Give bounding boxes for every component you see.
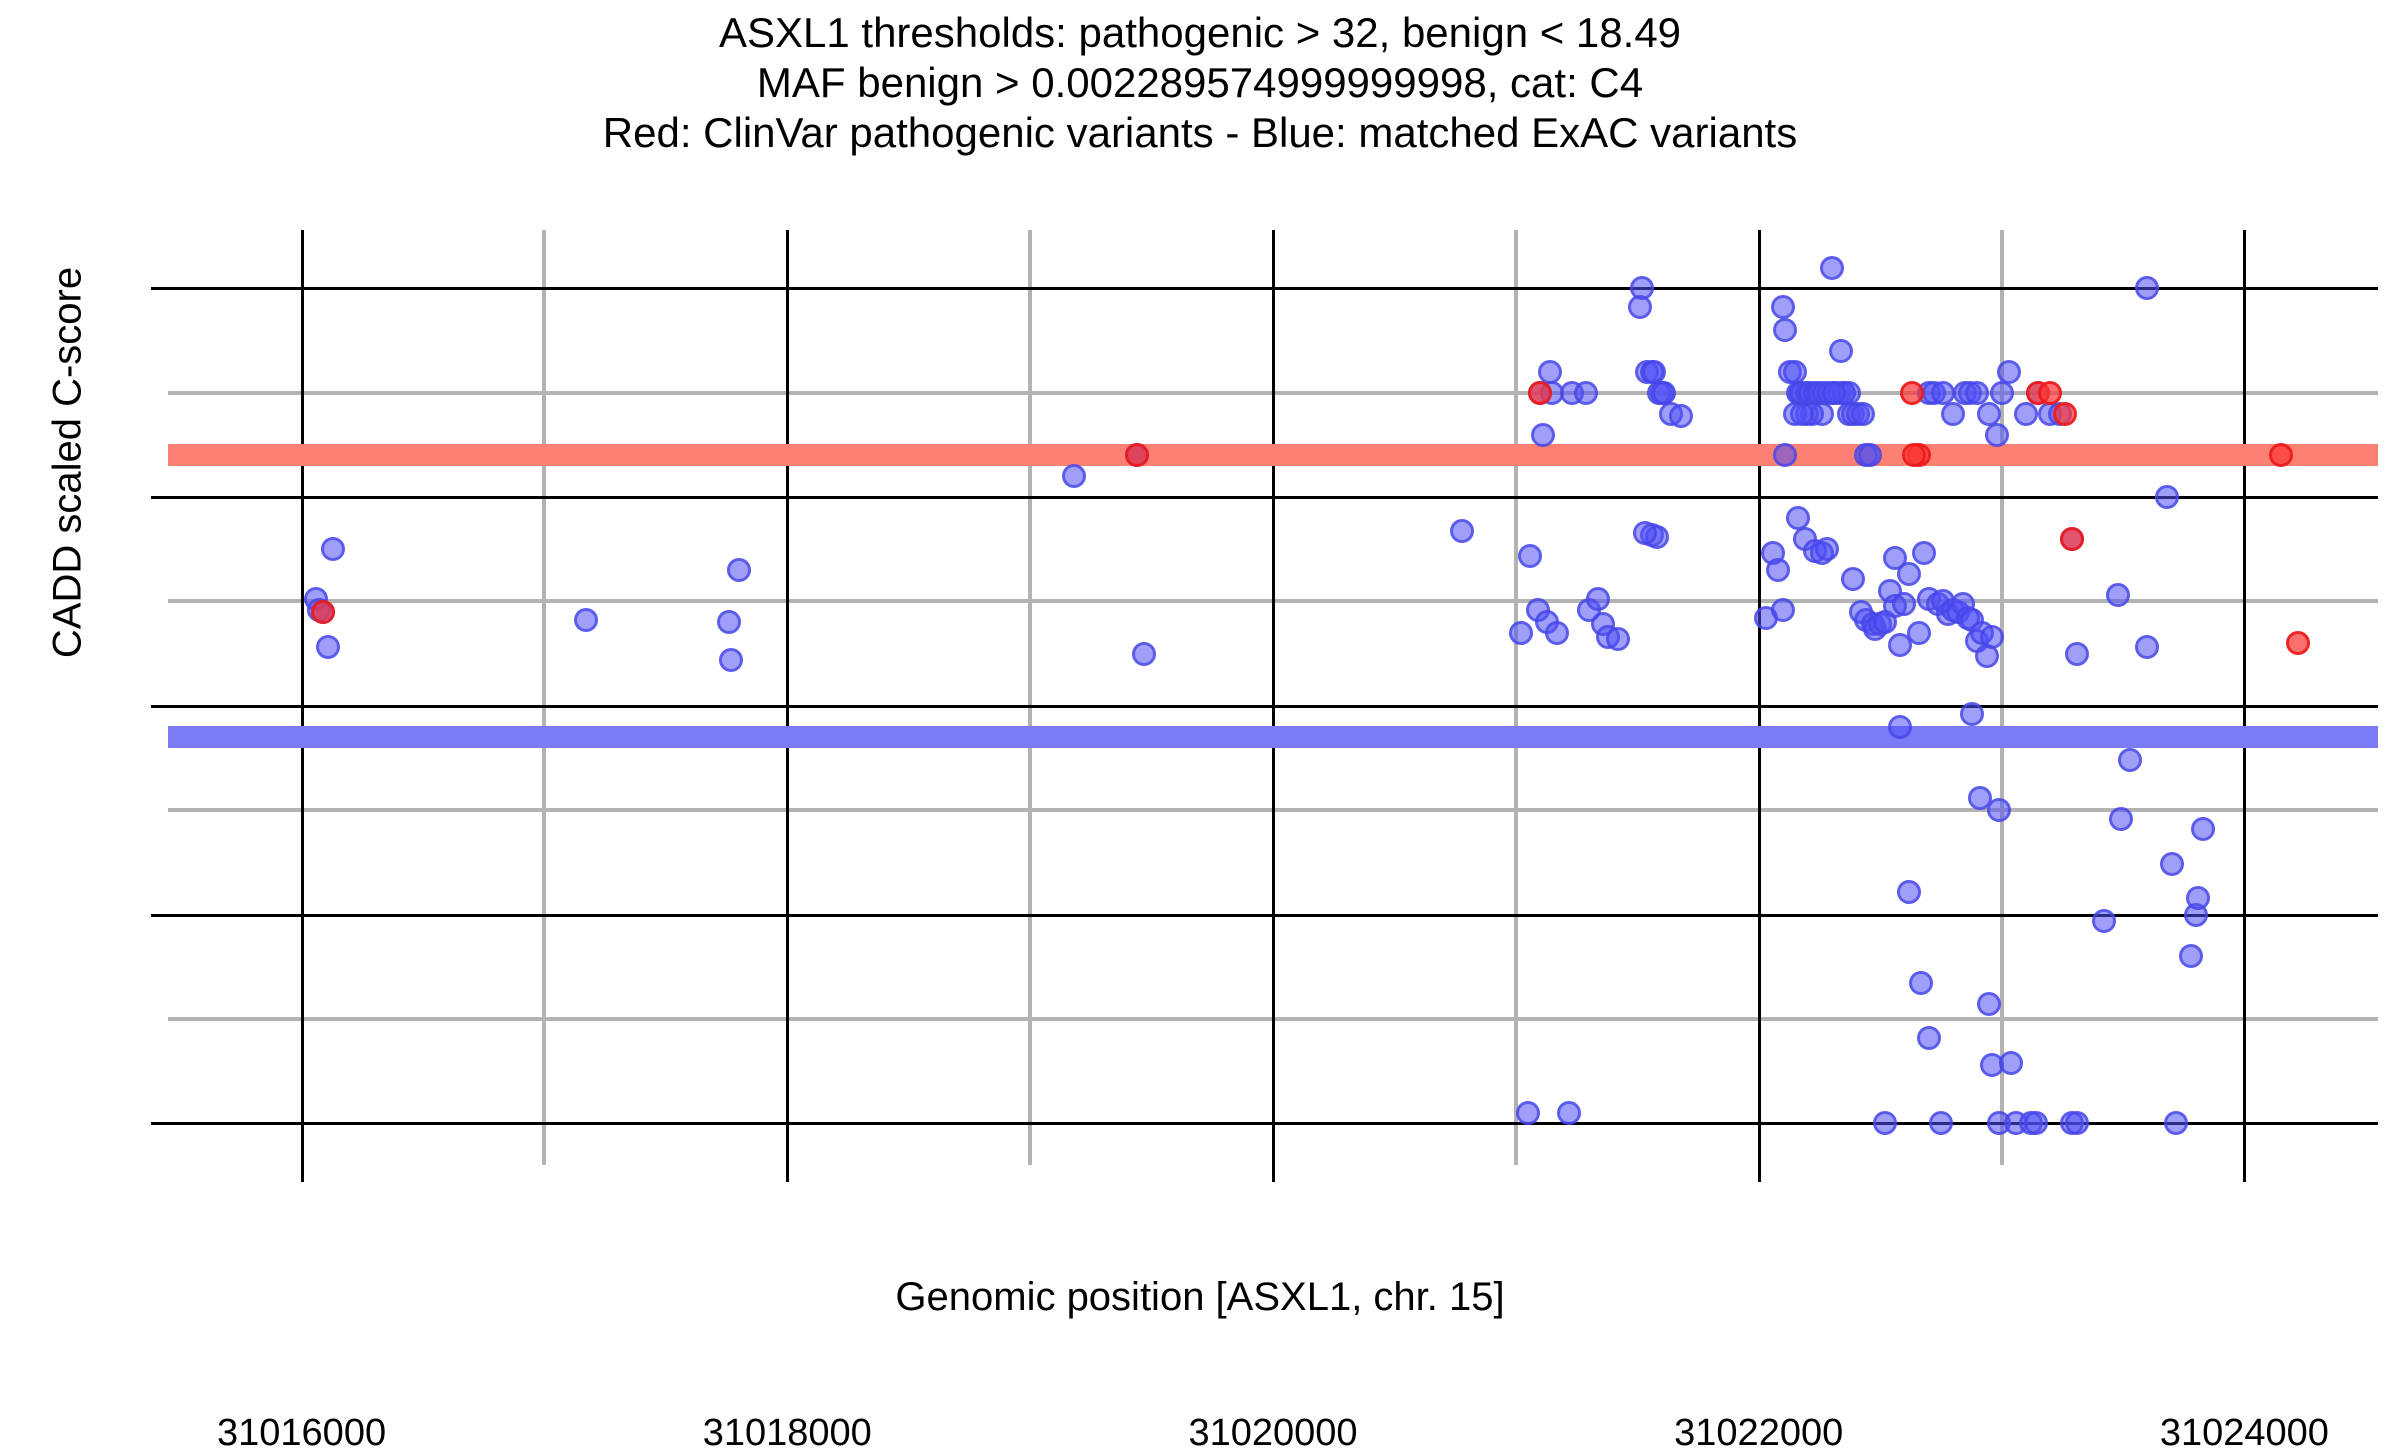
data-point-blue [1790, 402, 1814, 426]
data-point-blue [2179, 944, 2203, 968]
data-point-blue [1820, 256, 1844, 280]
data-point-blue [1917, 1026, 1941, 1050]
data-point-blue [1985, 423, 2009, 447]
x-tick-label: 31018000 [607, 1412, 967, 1455]
data-point-blue [1450, 519, 1474, 543]
data-point-blue [2186, 886, 2210, 910]
axis-line-vertical [2243, 230, 2246, 1165]
data-point-blue [1766, 558, 1790, 582]
data-point-blue [1873, 1111, 1897, 1135]
title-line-3: Red: ClinVar pathogenic variants - Blue:… [0, 108, 2400, 158]
data-point-blue [1841, 567, 1865, 591]
data-point-red [1528, 381, 1552, 405]
title-line-1: ASXL1 thresholds: pathogenic > 32, benig… [0, 8, 2400, 58]
data-point-blue [1771, 598, 1795, 622]
x-tick-mark [1758, 1165, 1761, 1182]
data-point-blue [1574, 381, 1598, 405]
data-point-red [2053, 402, 2077, 426]
data-point-blue [1977, 992, 2001, 1016]
data-point-blue [1669, 404, 1693, 428]
data-point-blue [1822, 381, 1846, 405]
chart-title: ASXL1 thresholds: pathogenic > 32, benig… [0, 8, 2400, 158]
data-point-red [1900, 381, 1924, 405]
x-tick-mark [301, 1165, 304, 1182]
data-point-blue [2065, 1111, 2089, 1135]
x-tick-mark [1272, 1165, 1275, 1182]
data-point-blue [1606, 627, 1630, 651]
data-point-blue [1773, 318, 1797, 342]
data-point-blue [1531, 423, 1555, 447]
data-point-blue [1628, 295, 1652, 319]
data-point-red [311, 600, 335, 624]
data-point-blue [574, 608, 598, 632]
data-point-blue [2024, 1111, 2048, 1135]
data-point-blue [1586, 587, 1610, 611]
data-point-blue [2191, 817, 2215, 841]
data-point-blue [2135, 635, 2159, 659]
x-tick-mark [2243, 1165, 2246, 1182]
data-point-blue [2160, 852, 2184, 876]
data-point-blue [717, 610, 741, 634]
data-point-blue [1829, 339, 1853, 363]
data-point-red [2286, 631, 2310, 655]
data-point-blue [1997, 360, 2021, 384]
data-point-blue [727, 558, 751, 582]
data-point-blue [316, 635, 340, 659]
x-tick-label: 31024000 [2064, 1412, 2400, 1455]
data-point-blue [2106, 583, 2130, 607]
x-axis-label: Genomic position [ASXL1, chr. 15] [0, 1275, 2400, 1320]
data-point-blue [2118, 748, 2142, 772]
data-point-blue [2164, 1111, 2188, 1135]
axis-line-vertical [1758, 230, 1761, 1165]
data-point-blue [1909, 971, 1933, 995]
data-point-blue [1907, 621, 1931, 645]
plot-area: 0102030403101600031018000310200003102200… [168, 230, 2378, 1165]
scatter-plot-figure: ASXL1 thresholds: pathogenic > 32, benig… [0, 0, 2400, 1350]
data-point-blue [1892, 592, 1916, 616]
data-point-blue [2155, 485, 2179, 509]
y-tick-mark [151, 1122, 168, 1125]
data-point-blue [1980, 625, 2004, 649]
y-tick-mark [151, 914, 168, 917]
data-point-blue [719, 648, 743, 672]
gridline-vertical [542, 230, 546, 1165]
axis-line-vertical [1272, 230, 1275, 1165]
x-tick-mark [786, 1165, 789, 1182]
data-point-blue [1851, 402, 1875, 426]
data-point-blue [1990, 381, 2014, 405]
y-tick-mark [151, 287, 168, 290]
data-point-blue [1815, 537, 1839, 561]
data-point-blue [2135, 276, 2159, 300]
data-point-blue [2065, 642, 2089, 666]
threshold-band-pathogenic [168, 444, 2378, 466]
data-point-blue [2109, 807, 2133, 831]
data-point-blue [1545, 621, 1569, 645]
gridline-vertical [1514, 230, 1518, 1165]
x-tick-label: 31020000 [1093, 1412, 1453, 1455]
y-tick-mark [151, 496, 168, 499]
data-point-blue [321, 537, 345, 561]
threshold-band-benign [168, 726, 2378, 748]
data-point-blue [1633, 521, 1657, 545]
y-tick-mark [151, 705, 168, 708]
data-point-red [2038, 381, 2062, 405]
data-point-blue [1897, 880, 1921, 904]
data-point-blue [1999, 1051, 2023, 1075]
gridline-vertical [1028, 230, 1032, 1165]
axis-line-vertical [301, 230, 304, 1165]
data-point-blue [1557, 1101, 1581, 1125]
data-point-blue [2092, 909, 2116, 933]
data-point-blue [1965, 381, 1989, 405]
data-point-blue [1929, 1111, 1953, 1135]
data-point-blue [1516, 1101, 1540, 1125]
data-point-blue [1062, 464, 1086, 488]
data-point-red [2060, 527, 2084, 551]
x-tick-label: 31016000 [122, 1412, 482, 1455]
data-point-blue [1518, 544, 1542, 568]
data-point-blue [1912, 541, 1936, 565]
axis-line-vertical [786, 230, 789, 1165]
title-line-2: MAF benign > 0.002289574999999998, cat: … [0, 58, 2400, 108]
data-point-blue [2014, 402, 2038, 426]
x-tick-label: 31022000 [1579, 1412, 1939, 1455]
data-point-blue [1509, 621, 1533, 645]
data-point-blue [1771, 295, 1795, 319]
data-point-blue [1941, 402, 1965, 426]
data-point-blue [1987, 798, 2011, 822]
data-point-blue [1883, 546, 1907, 570]
y-axis-label: CADD scaled C-score [46, 163, 91, 763]
data-point-blue [1132, 642, 1156, 666]
data-point-blue [1888, 715, 1912, 739]
data-point-blue [1960, 702, 1984, 726]
